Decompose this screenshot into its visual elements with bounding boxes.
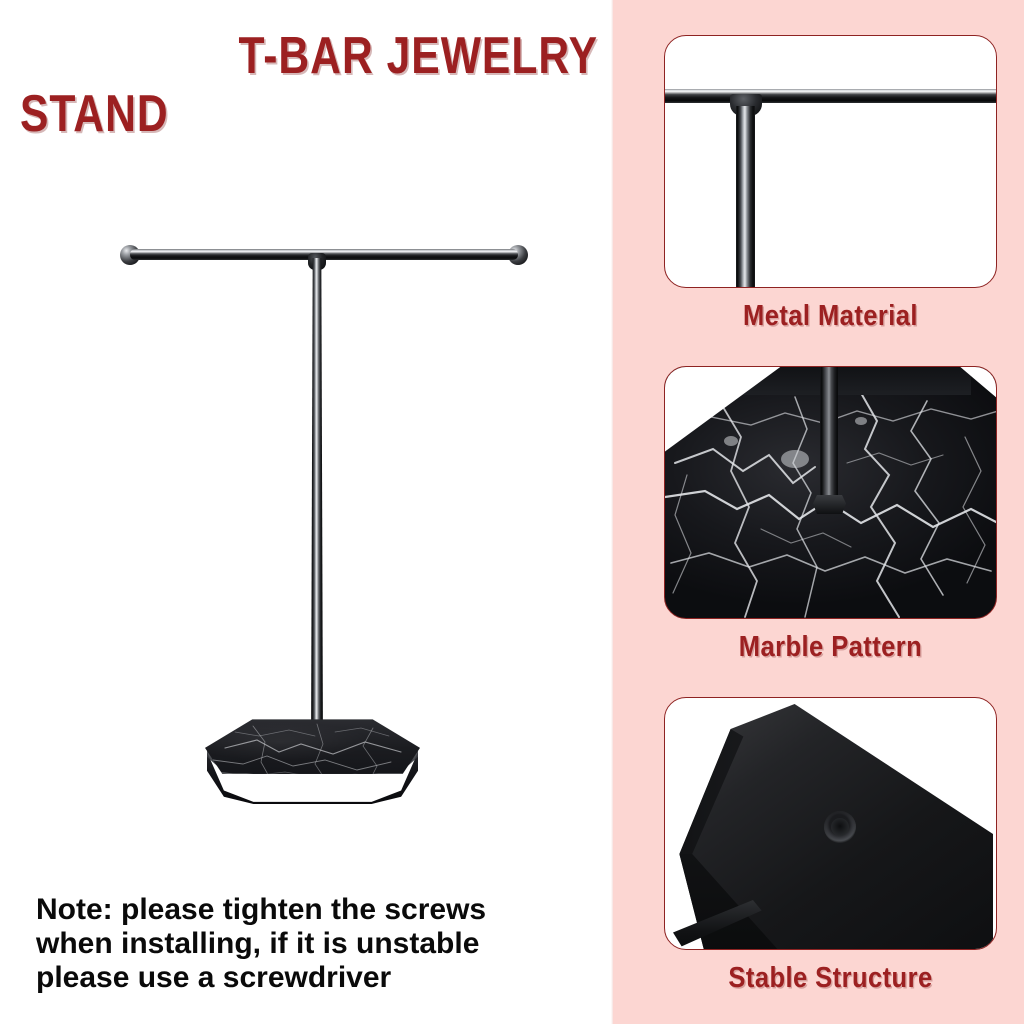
- page-title: T-BAR JEWELRY STAND: [20, 28, 598, 142]
- features-panel: Metal Material: [613, 0, 1024, 1024]
- metal-horizontal-bar: [664, 89, 997, 103]
- t-bar-vertical-post: [311, 258, 323, 752]
- feature-image-metal-material: [664, 35, 997, 288]
- marble-inserted-post: [820, 366, 838, 505]
- screw-hole-inner-icon: [831, 818, 849, 836]
- left-panel: T-BAR JEWELRY STAND: [0, 0, 613, 1024]
- note-block: Note: please tighten the screws when ins…: [36, 893, 596, 995]
- feature-marble-pattern: Marble Pattern: [664, 366, 997, 664]
- product-infographic-page: T-BAR JEWELRY STAND: [0, 0, 1024, 1024]
- feature-metal-material: Metal Material: [664, 35, 997, 333]
- marble-post-hex-nut: [813, 495, 846, 514]
- note-line-1: Note: please tighten the screws: [36, 893, 596, 927]
- feature-label-metal-material: Metal Material: [684, 300, 977, 333]
- marble-vein-pattern-icon: [205, 718, 420, 786]
- feature-image-stable-structure: [664, 697, 997, 950]
- feature-image-marble-pattern: [664, 366, 997, 619]
- metal-vertical-post: [736, 106, 755, 288]
- note-line-2: when installing, if it is unstable: [36, 927, 596, 961]
- feature-stable-structure: Stable Structure: [664, 697, 997, 995]
- title-line-1: T-BAR JEWELRY: [124, 28, 598, 84]
- note-line-3: please use a screwdriver: [36, 961, 596, 995]
- title-line-2: STAND: [20, 86, 494, 142]
- base-underside-slab: [673, 704, 993, 950]
- hexagonal-marble-base: [205, 718, 420, 810]
- feature-label-marble-pattern: Marble Pattern: [684, 631, 977, 664]
- product-main-image: [60, 200, 560, 850]
- feature-label-stable-structure: Stable Structure: [684, 962, 977, 995]
